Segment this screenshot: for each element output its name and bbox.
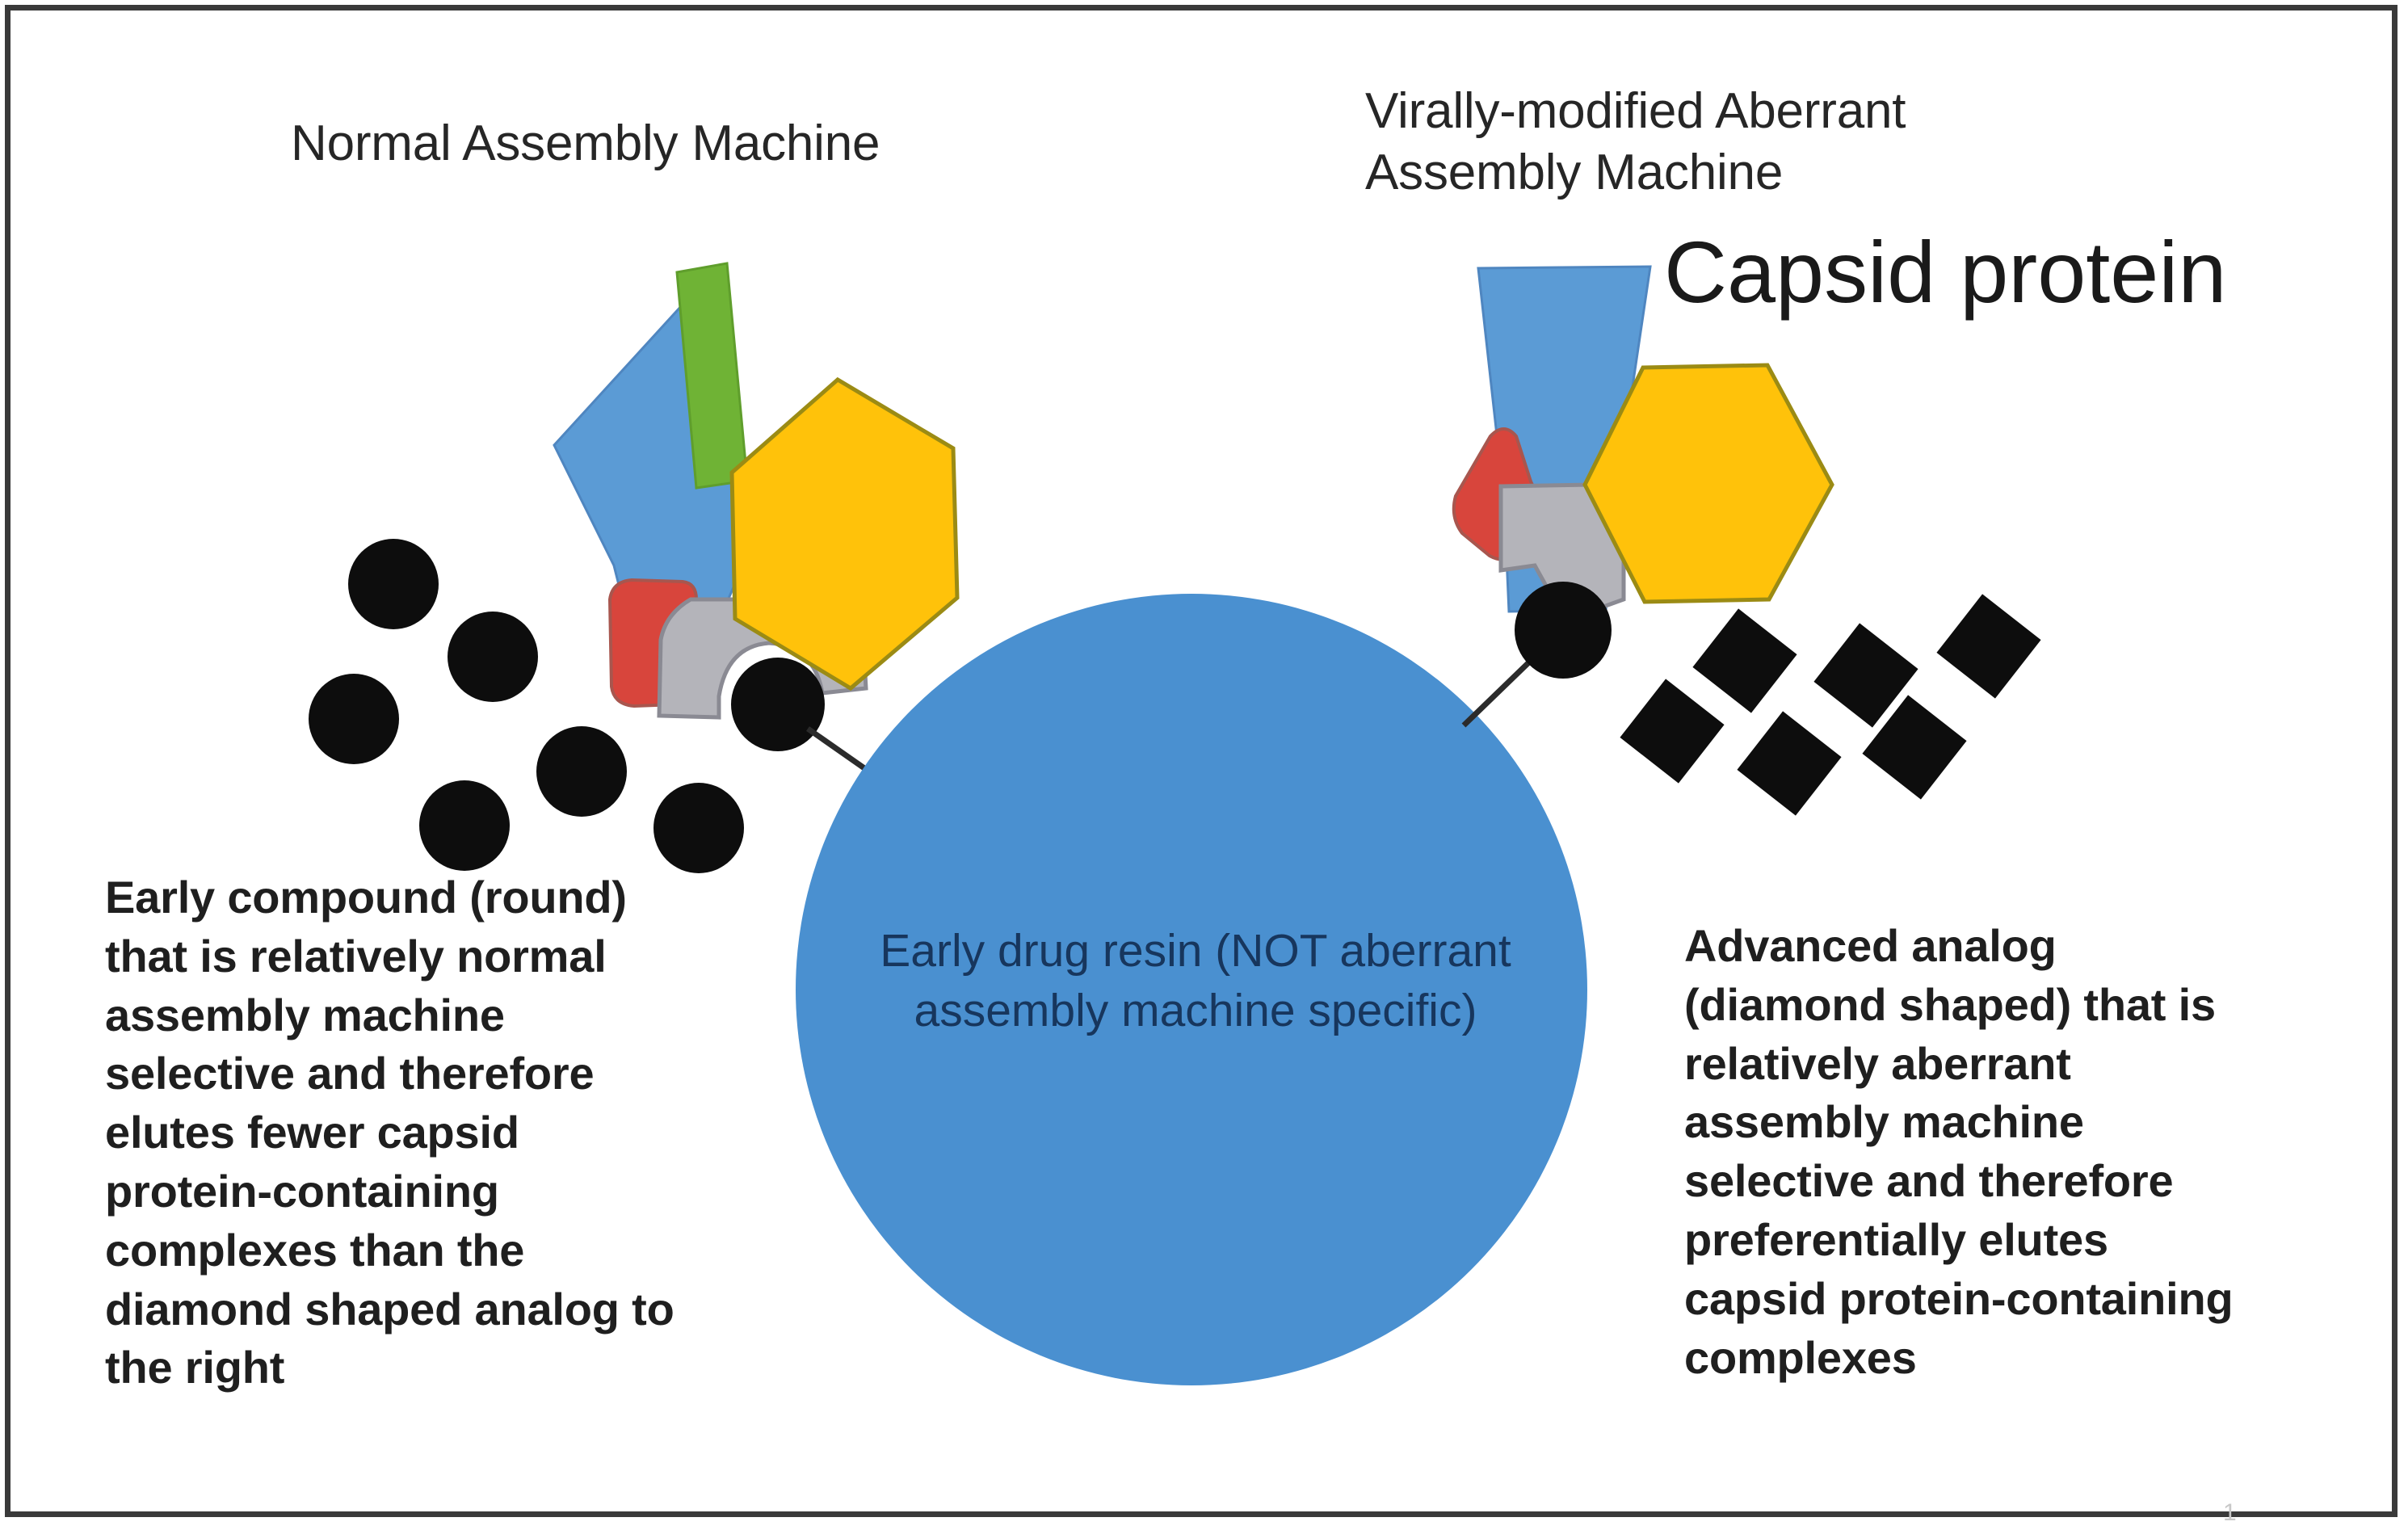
page-number: 1: [2223, 1499, 2237, 1527]
compound-circle: [448, 612, 538, 702]
compound-circle: [419, 780, 510, 871]
analog-diamond: [1692, 608, 1797, 712]
analog-diamond: [1936, 594, 2040, 698]
compound-circle: [309, 674, 399, 764]
caption-early-compound: Early compound (round) that is relativel…: [105, 868, 743, 1398]
analog-diamond: [1737, 711, 1841, 815]
compound-circle: [348, 539, 439, 629]
compound-circle-bound: [731, 658, 825, 751]
caption-advanced-analog: Advanced analog (diamond shaped) that is…: [1684, 917, 2347, 1387]
normal-assembly-machine-group: [554, 263, 957, 717]
slide-canvas: Normal Assembly Machine Virally-modified…: [0, 0, 2408, 1530]
advanced-analog-cluster: [1620, 594, 2040, 815]
analog-diamond: [1620, 679, 1724, 783]
analog-circle-bound: [1515, 582, 1612, 679]
early-drug-resin-label: Early drug resin (NOT aberrant assembly …: [808, 921, 1583, 1040]
heading-aberrant-assembly-machine: Virally-modified Aberrant Assembly Machi…: [1365, 81, 1906, 203]
compound-circle: [536, 726, 627, 817]
compound-circle: [653, 783, 744, 873]
capsid-protein-label: Capsid protein: [1664, 226, 2226, 317]
right-connector-line: [1464, 654, 1537, 725]
heading-normal-assembly-machine: Normal Assembly Machine: [291, 113, 880, 174]
